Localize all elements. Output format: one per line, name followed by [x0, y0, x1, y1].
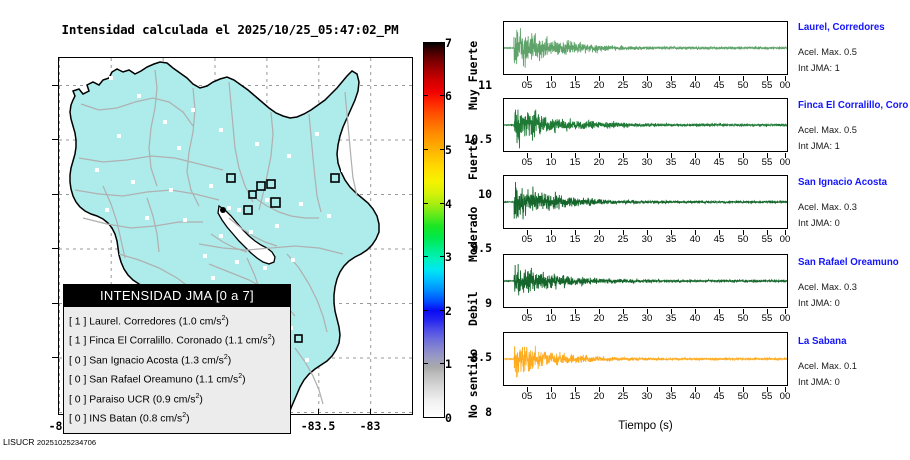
- jma-legend-title: INTENSIDAD JMA [0 a 7]: [64, 285, 290, 307]
- colorbar-tick-mark: [423, 310, 445, 311]
- xtick-label: 30: [636, 313, 658, 324]
- map-ytick-mark: [52, 303, 58, 304]
- jma-legend-row: [ 0 ] San Ignacio Acosta (1.3 cm/s2): [69, 350, 285, 369]
- colorbar-tick-mark: [423, 95, 445, 96]
- waveform-xaxis-0: 05 10 15 20 25 30 35 40 45 50 55 00: [503, 76, 788, 90]
- jma-station: Paraiso UCR: [89, 394, 150, 405]
- xtick-label: 05: [516, 234, 538, 245]
- map-ytick-mark: [52, 139, 58, 140]
- xtick-label: 40: [684, 313, 706, 324]
- jma-unit: cm/s: [160, 414, 182, 425]
- station-label-3: San Rafael Oreamuno: [798, 257, 899, 268]
- xtick-label: 15: [564, 391, 586, 402]
- xtick-label: 10: [540, 313, 562, 324]
- waveform-panel-2[interactable]: [503, 175, 788, 229]
- colorbar-tick-mark: [423, 363, 445, 364]
- xtick-label: 05: [516, 391, 538, 402]
- xtick-label: 45: [708, 391, 730, 402]
- waveform-xaxis-2: 05 10 15 20 25 30 35 40 45 50 55 00: [503, 230, 788, 244]
- waveform-trace-1: [504, 99, 787, 151]
- colorbar-tick-mark: [423, 149, 445, 150]
- colorbar-category-fuerte: Fuerte: [466, 138, 480, 180]
- map-xtick: -83: [340, 419, 400, 433]
- jma-accel: 0.9: [156, 394, 170, 405]
- xtick-label: 35: [660, 313, 682, 324]
- jma-level: [ 0 ]: [69, 355, 86, 366]
- jma-unit: cm/s: [216, 375, 238, 386]
- xtick-label: 50: [732, 80, 754, 91]
- xtick-label: 00: [774, 234, 796, 245]
- jma-intensity-legend: INTENSIDAD JMA [0 a 7] [ 1 ] Laurel. Cor…: [63, 284, 291, 434]
- map-ytick-mark: [52, 248, 58, 249]
- footer: LISUCR 20251025234706: [3, 437, 96, 447]
- xtick-label: 20: [588, 80, 610, 91]
- station-label-1: Finca El Corralillo, Coro: [798, 100, 908, 111]
- jma-station: Laurel. Corredores: [89, 316, 176, 327]
- colorbar-tick-mark: [423, 203, 445, 204]
- jma-station: Finca El Corralillo. Coronado: [89, 336, 222, 347]
- xtick-label: 20: [588, 157, 610, 168]
- station-label-4: La Sabana: [798, 336, 846, 347]
- xtick-label: 10: [540, 391, 562, 402]
- waveform-trace-3: [504, 255, 787, 307]
- xtick-label: 20: [588, 313, 610, 324]
- jma-legend-list: [ 1 ] Laurel. Corredores (1.0 cm/s2) [ 1…: [64, 307, 290, 433]
- jma-legend-row: [ 1 ] Laurel. Corredores (1.0 cm/s2): [69, 311, 285, 330]
- xtick-label: 45: [708, 80, 730, 91]
- waveform-xaxis-title: Tiempo (s): [503, 420, 788, 432]
- map-ytick-mark: [52, 357, 58, 358]
- jma-accel: 1.0: [182, 316, 196, 327]
- xtick-label: 30: [636, 157, 658, 168]
- xtick-label: 00: [774, 157, 796, 168]
- colorbar-category-muy-fuerte: Muy Fuerte: [466, 41, 480, 110]
- station-accel-4: Acel. Max. 0.1: [798, 361, 857, 371]
- xtick-label: 45: [708, 234, 730, 245]
- xtick-label: 25: [612, 313, 634, 324]
- xtick-label: 40: [684, 157, 706, 168]
- waveform-trace-0: [504, 22, 787, 74]
- map-xtick-mark: [370, 409, 371, 415]
- xtick-label: 00: [774, 80, 796, 91]
- xtick-label: 10: [540, 157, 562, 168]
- xtick-label: 40: [684, 80, 706, 91]
- xtick-label: 30: [636, 234, 658, 245]
- jma-unit: cm/s: [202, 355, 224, 366]
- station-accel-0: Acel. Max. 0.5: [798, 47, 857, 57]
- xtick-label: 15: [564, 234, 586, 245]
- xtick-label: 50: [732, 234, 754, 245]
- jma-legend-row: [ 0 ] INS Batan (0.8 cm/s2): [69, 408, 285, 427]
- colorbar-category-debil: Debil: [466, 291, 480, 326]
- jma-unit: cm/s: [174, 394, 196, 405]
- jma-accel: 1.3: [185, 355, 199, 366]
- jma-level: [ 1 ]: [69, 316, 86, 327]
- xtick-label: 15: [564, 80, 586, 91]
- xtick-label: 40: [684, 391, 706, 402]
- xtick-label: 45: [708, 313, 730, 324]
- xtick-label: 05: [516, 157, 538, 168]
- xtick-label: 35: [660, 391, 682, 402]
- jma-unit: cm/s: [200, 316, 222, 327]
- station-accel-3: Acel. Max. 0.3: [798, 282, 857, 292]
- station-jma-4: Int JMA: 0: [798, 377, 840, 387]
- colorbar-category-no-sentido: No sentido: [466, 349, 480, 418]
- station-jma-1: Int JMA: 1: [798, 141, 840, 151]
- jma-level: [ 0 ]: [69, 394, 86, 405]
- xtick-label: 25: [612, 157, 634, 168]
- xtick-label: 10: [540, 234, 562, 245]
- xtick-label: 20: [588, 234, 610, 245]
- intensity-colorbar[interactable]: [423, 42, 445, 418]
- waveform-xaxis-3: 05 10 15 20 25 30 35 40 45 50 55 00: [503, 309, 788, 323]
- waveform-trace-2: [504, 176, 787, 228]
- xtick-label: 35: [660, 234, 682, 245]
- jma-legend-row: [ 0 ] San Rafael Oreamuno (1.1 cm/s2): [69, 369, 285, 388]
- waveform-panel-3[interactable]: [503, 254, 788, 308]
- jma-station: INS Batan: [89, 414, 136, 425]
- jma-accel: 1.1: [228, 336, 242, 347]
- colorbar-tick-mark: [423, 256, 445, 257]
- xtick-label: 10: [540, 80, 562, 91]
- xtick-label: 35: [660, 80, 682, 91]
- xtick-label: 50: [732, 157, 754, 168]
- jma-accel: 0.8: [143, 414, 157, 425]
- station-jma-0: Int JMA: 1: [798, 63, 840, 73]
- waveform-xaxis-4: 05 10 15 20 25 30 35 40 45 50 55 00: [503, 387, 788, 401]
- xtick-label: 15: [564, 313, 586, 324]
- page-title: Intensidad calculada el 2025/10/25_05:47…: [0, 22, 460, 37]
- colorbar-gradient: [423, 42, 445, 418]
- colorbar-category-moderado: Moderado: [466, 207, 480, 262]
- xtick-label: 25: [612, 234, 634, 245]
- waveform-panel-4[interactable]: [503, 332, 788, 386]
- jma-level: [ 0 ]: [69, 375, 86, 386]
- xtick-label: 05: [516, 80, 538, 91]
- map-ytick-mark: [52, 194, 58, 195]
- jma-level: [ 0 ]: [69, 414, 86, 425]
- jma-legend-row: [ 1 ] Finca El Corralillo. Coronado (1.1…: [69, 330, 285, 349]
- map-xtick: -83.5: [288, 419, 348, 433]
- xtick-label: 35: [660, 157, 682, 168]
- xtick-label: 20: [588, 391, 610, 402]
- xtick-label: 00: [774, 391, 796, 402]
- xtick-label: 30: [636, 391, 658, 402]
- xtick-label: 25: [612, 80, 634, 91]
- jma-station: San Rafael Oreamuno: [89, 375, 192, 386]
- xtick-label: 45: [708, 157, 730, 168]
- waveform-trace-4: [504, 333, 787, 385]
- station-label-0: Laurel, Corredores: [798, 22, 885, 33]
- footer-code: 20251025234706: [37, 438, 96, 447]
- xtick-label: 05: [516, 313, 538, 324]
- xtick-label: 40: [684, 234, 706, 245]
- map-ytick-mark: [52, 85, 58, 86]
- xtick-label: 50: [732, 313, 754, 324]
- waveform-xaxis-1: 05 10 15 20 25 30 35 40 45 50 55 00: [503, 153, 788, 167]
- station-accel-1: Acel. Max. 0.5: [798, 125, 857, 135]
- jma-accel: 1.1: [199, 375, 213, 386]
- jma-level: [ 1 ]: [69, 336, 86, 347]
- xtick-label: 00: [774, 313, 796, 324]
- station-jma-3: Int JMA: 0: [798, 298, 840, 308]
- station-jma-2: Int JMA: 0: [798, 218, 840, 228]
- footer-source: LISUCR: [3, 437, 35, 447]
- map-xtick-mark: [318, 409, 319, 415]
- station-accel-2: Acel. Max. 0.3: [798, 202, 857, 212]
- xtick-label: 50: [732, 391, 754, 402]
- xtick-label: 25: [612, 391, 634, 402]
- station-label-2: San Ignacio Acosta: [798, 177, 887, 188]
- xtick-label: 30: [636, 80, 658, 91]
- jma-unit: cm/s: [246, 336, 268, 347]
- jma-legend-row: [ 0 ] Paraiso UCR (0.9 cm/s2): [69, 389, 285, 408]
- xtick-label: 15: [564, 157, 586, 168]
- waveform-panel-1[interactable]: [503, 98, 788, 152]
- waveform-panel-0[interactable]: [503, 21, 788, 75]
- jma-station: San Ignacio Acosta: [89, 355, 178, 366]
